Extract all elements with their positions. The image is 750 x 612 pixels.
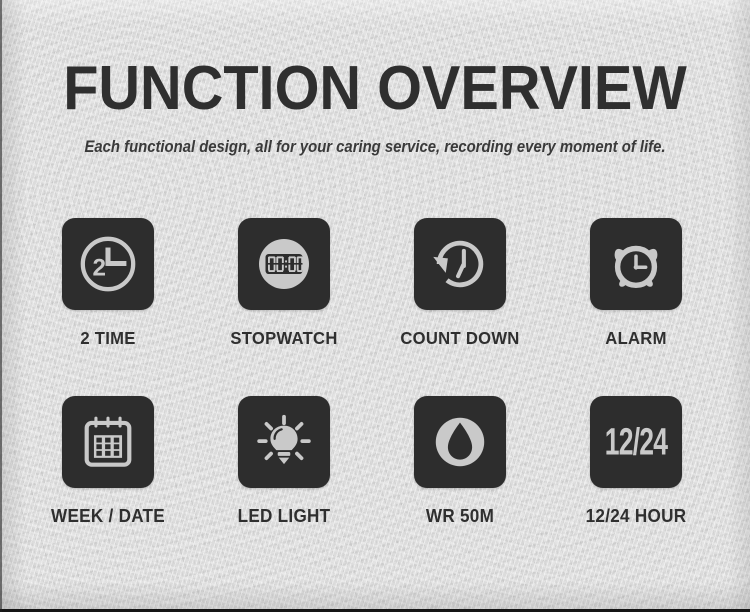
- feature-item-count-down[interactable]: COUNT DOWN: [372, 218, 548, 349]
- feature-item-led-light[interactable]: LED LIGHT: [196, 396, 372, 527]
- feature-row-2: WEEK / DATE: [0, 396, 750, 574]
- twelve-twentyfour-icon: 12/24: [600, 390, 672, 493]
- feature-tile[interactable]: 12/24: [590, 396, 682, 488]
- page-subtitle: Each functional design, all for your car…: [38, 137, 713, 157]
- clock-2-time-icon: 2: [62, 218, 154, 310]
- feature-tile[interactable]: [590, 218, 682, 310]
- feature-item-stopwatch[interactable]: STOPWATCH: [196, 218, 372, 349]
- feature-tile[interactable]: 2: [62, 218, 154, 310]
- feature-label: 12/24 HOUR: [552, 506, 719, 527]
- feature-item-2-time[interactable]: 2 2 TIME: [20, 218, 196, 349]
- alarm-clock-icon: [590, 218, 682, 310]
- count-down-clock-icon: [414, 218, 506, 310]
- feature-tile[interactable]: [62, 396, 154, 488]
- feature-tile[interactable]: [238, 218, 330, 310]
- feature-item-wr-50m[interactable]: WR 50M: [372, 396, 548, 527]
- feature-item-alarm[interactable]: ALARM: [548, 218, 724, 349]
- feature-item-12-24-hour[interactable]: 12/24 12/24 HOUR: [548, 396, 724, 527]
- feature-label: COUNT DOWN: [376, 328, 543, 349]
- feature-label: LED LIGHT: [200, 506, 367, 527]
- stopwatch-digital-icon: [238, 218, 330, 310]
- feature-label: STOPWATCH: [200, 328, 367, 349]
- function-overview-page: FUNCTION OVERVIEW Each functional design…: [0, 0, 750, 612]
- feature-tile[interactable]: [238, 396, 330, 488]
- water-drop-icon: [414, 396, 506, 488]
- feature-label: 2 TIME: [24, 328, 191, 349]
- feature-grid: 2 2 TIME: [0, 218, 750, 574]
- feature-tile[interactable]: [414, 396, 506, 488]
- svg-text:2: 2: [93, 255, 106, 282]
- feature-label: WR 50M: [376, 506, 543, 527]
- calendar-icon: [62, 396, 154, 488]
- feature-item-week-date[interactable]: WEEK / DATE: [20, 396, 196, 527]
- light-bulb-icon: [238, 396, 330, 488]
- feature-label: WEEK / DATE: [24, 506, 191, 527]
- feature-row-1: 2 2 TIME: [0, 218, 750, 396]
- feature-tile[interactable]: [414, 218, 506, 310]
- feature-label: ALARM: [552, 328, 719, 349]
- page-title: FUNCTION OVERVIEW: [26, 56, 724, 122]
